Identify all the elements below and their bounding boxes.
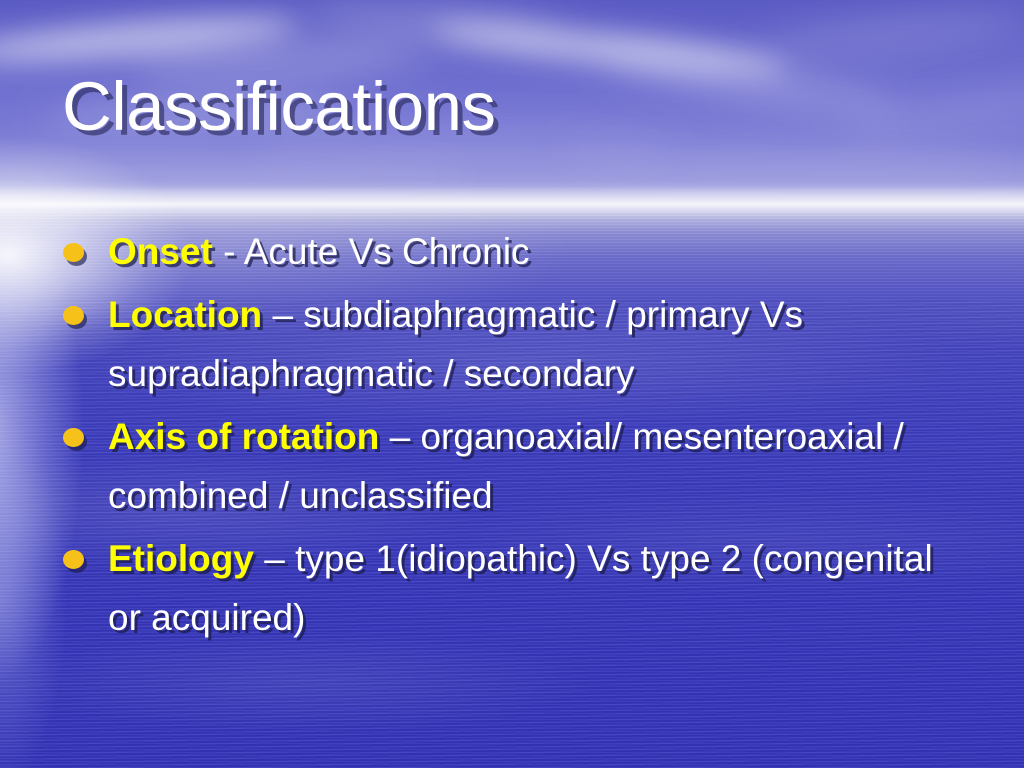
bullet-detail-text: - Acute Vs Chronic	[213, 231, 530, 272]
bullet-lead-term: Axis of rotation	[108, 416, 379, 457]
slide-content: Classifications Onset - Acute Vs Chronic…	[0, 0, 1024, 768]
round-bullet-icon	[63, 243, 84, 262]
round-bullet-icon	[63, 428, 84, 447]
bullet-lead-term: Etiology	[108, 538, 254, 579]
presentation-slide: Classifications Onset - Acute Vs Chronic…	[0, 0, 1024, 768]
bullet-lead-term: Location	[108, 294, 262, 335]
bullet-lead-term: Onset	[108, 231, 213, 272]
list-item: Onset - Acute Vs Chronic	[62, 222, 962, 281]
list-item: Axis of rotation – organoaxial/ mesenter…	[62, 407, 962, 525]
round-bullet-icon	[63, 550, 84, 569]
list-item: Location – subdiaphragmatic / primary Vs…	[62, 285, 962, 403]
bullet-list: Onset - Acute Vs Chronic Location – subd…	[62, 222, 962, 651]
slide-title: Classifications	[62, 72, 496, 141]
round-bullet-icon	[63, 306, 84, 325]
list-item: Etiology – type 1(idiopathic) Vs type 2 …	[62, 529, 962, 647]
